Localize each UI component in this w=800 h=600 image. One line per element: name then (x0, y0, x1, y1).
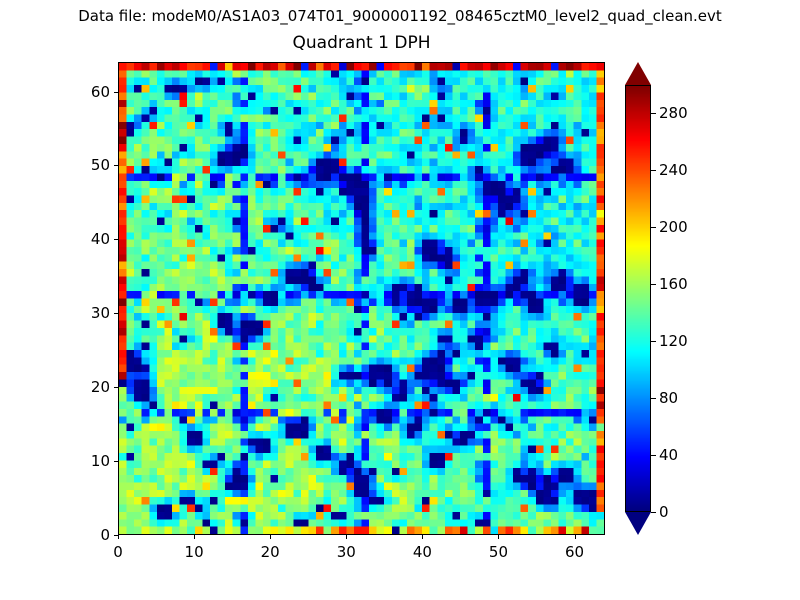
colorbar-tick-label: 240 (659, 161, 688, 179)
colorbar-body (625, 85, 651, 512)
y-tick-mark (114, 165, 118, 166)
x-tick-label: 40 (413, 543, 432, 561)
figure-suptitle: Data file: modeM0/AS1A03_074T01_90000011… (0, 7, 800, 25)
y-tick-label: 20 (70, 378, 110, 396)
x-tick-label: 30 (337, 543, 356, 561)
y-tick-label: 0 (70, 526, 110, 544)
x-tick-label: 50 (489, 543, 508, 561)
heatmap-image (119, 63, 604, 534)
x-tick-mark (118, 535, 119, 539)
y-tick-label: 50 (70, 156, 110, 174)
colorbar-tick-mark (651, 227, 656, 228)
y-tick-label: 30 (70, 304, 110, 322)
colorbar-tick-mark (651, 113, 656, 114)
colorbar-tick-mark (651, 512, 656, 513)
y-tick-mark (114, 535, 118, 536)
colorbar-tick-label: 280 (659, 104, 688, 122)
y-tick-mark (114, 387, 118, 388)
x-tick-mark (422, 535, 423, 539)
colorbar-tick-label: 0 (659, 503, 669, 521)
colorbar: 04080120160200240280 (625, 62, 651, 535)
x-tick-mark (346, 535, 347, 539)
x-tick-label: 10 (185, 543, 204, 561)
colorbar-tick-label: 120 (659, 332, 688, 350)
colorbar-tick-mark (651, 455, 656, 456)
colorbar-tick-mark (651, 284, 656, 285)
colorbar-tick-label: 40 (659, 446, 678, 464)
chart-title: Quadrant 1 DPH (118, 33, 605, 53)
y-tick-mark (114, 313, 118, 314)
x-tick-label: 60 (565, 543, 584, 561)
y-tick-mark (114, 92, 118, 93)
x-tick-mark (498, 535, 499, 539)
colorbar-tick-mark (651, 341, 656, 342)
y-tick-label: 40 (70, 230, 110, 248)
colorbar-tick-mark (651, 170, 656, 171)
x-tick-label: 0 (113, 543, 123, 561)
x-tick-mark (575, 535, 576, 539)
colorbar-tick-label: 80 (659, 389, 678, 407)
colorbar-over-arrow (625, 62, 651, 85)
colorbar-gradient (626, 86, 650, 511)
colorbar-tick-mark (651, 398, 656, 399)
y-tick-mark (114, 461, 118, 462)
x-tick-mark (270, 535, 271, 539)
colorbar-tick-label: 160 (659, 275, 688, 293)
x-tick-label: 20 (261, 543, 280, 561)
colorbar-tick-label: 200 (659, 218, 688, 236)
y-tick-label: 60 (70, 83, 110, 101)
y-tick-mark (114, 239, 118, 240)
heatmap-axes (118, 62, 605, 535)
y-tick-label: 10 (70, 452, 110, 470)
colorbar-under-arrow (625, 512, 651, 535)
x-tick-mark (194, 535, 195, 539)
